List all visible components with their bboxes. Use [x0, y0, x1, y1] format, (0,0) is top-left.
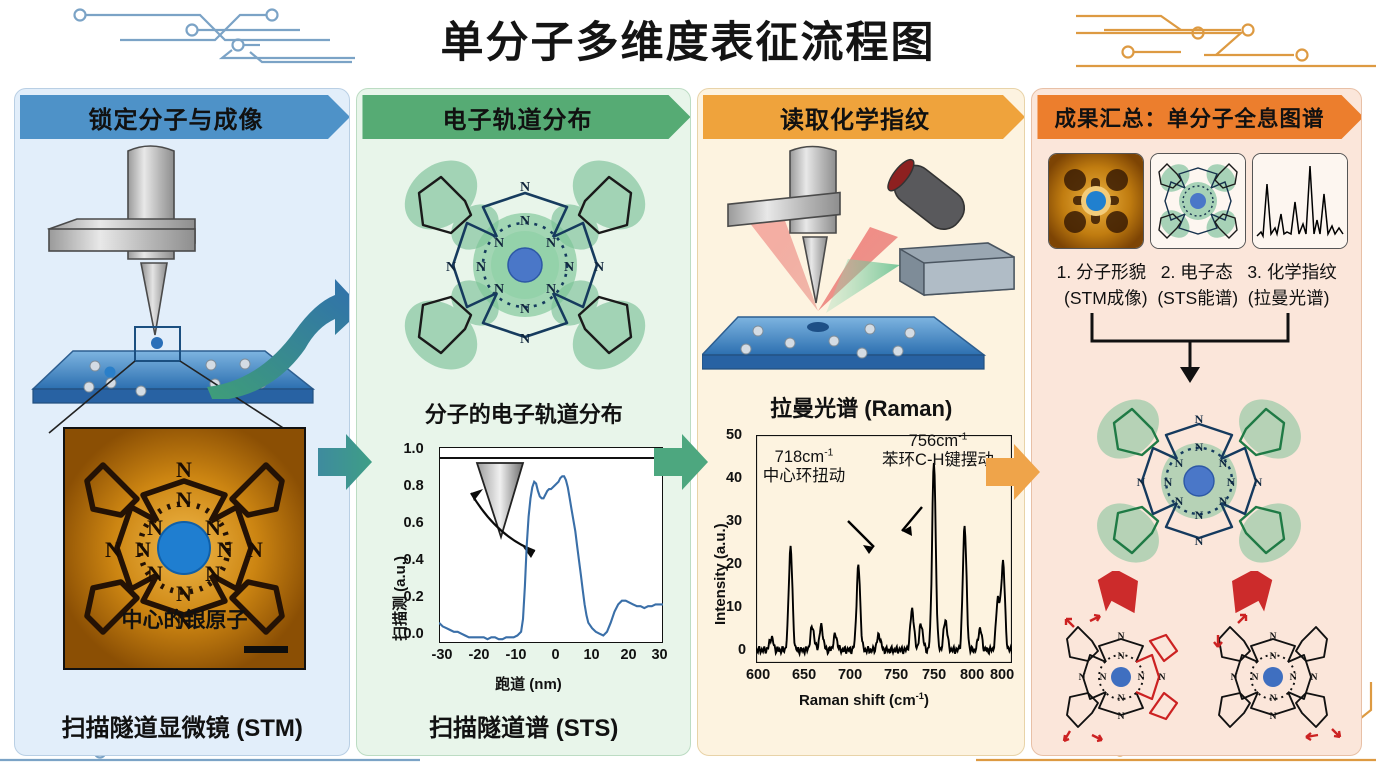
panel-raman-subtitle: 拉曼光谱 (Raman): [698, 391, 1025, 423]
arrow-panel2-to-panel3: [652, 430, 710, 494]
sts-chart: 扫描测 (a.u.) 跑道 (nm) 1.0 0.8 0.6 0.4 0.2 0…: [385, 441, 671, 701]
svg-text:N: N: [247, 537, 263, 562]
svg-text:N: N: [1195, 412, 1204, 426]
svg-text:N: N: [135, 537, 151, 562]
raman-ytick-20: 20: [726, 556, 742, 572]
sts-xtick-30: 30: [651, 647, 667, 663]
vibration-mode-molecule-right: NN NN NN NN: [1198, 609, 1348, 749]
panel-stm: 锁定分子与成像: [14, 88, 350, 756]
thumbnail-raman-spectrum: [1252, 153, 1348, 249]
stm-scale-bar: [244, 646, 288, 653]
raman-xtick-800a: 800: [960, 667, 984, 683]
svg-text:N: N: [476, 260, 486, 275]
svg-text:N: N: [1118, 712, 1125, 722]
sts-x-axis-label: 跑道 (nm): [385, 673, 671, 694]
panel-raman-header: 读取化学指纹: [703, 95, 1025, 139]
svg-text:N: N: [1100, 673, 1107, 683]
svg-text:N: N: [520, 180, 530, 195]
svg-text:N: N: [1138, 673, 1145, 683]
vibration-mode-molecule-left: NN NN NN NN: [1046, 609, 1196, 749]
svg-text:N: N: [1290, 673, 1297, 683]
svg-text:N: N: [494, 282, 504, 297]
svg-text:N: N: [205, 561, 221, 586]
svg-text:N: N: [520, 302, 530, 317]
ters-instrument-diagram: [702, 141, 1024, 391]
svg-text:N: N: [520, 332, 530, 347]
svg-text:N: N: [494, 236, 504, 251]
svg-text:N: N: [217, 537, 233, 562]
panel-raman: 读取化学指纹: [697, 88, 1026, 756]
raman-xtick-750b: 750: [922, 667, 946, 683]
svg-text:N: N: [1079, 673, 1086, 683]
svg-text:N: N: [1118, 652, 1125, 662]
sts-ytick-0.2: 0.2: [403, 589, 423, 605]
raman-annotation-756-wavenumber: 756cm-1: [909, 432, 968, 450]
svg-text:N: N: [1159, 673, 1166, 683]
sts-xtick--30: -30: [431, 647, 452, 663]
panel-sts-caption: 扫描隧道谱 (STS): [357, 708, 689, 743]
svg-text:N: N: [1270, 632, 1277, 642]
svg-text:N: N: [1270, 652, 1277, 662]
merge-arrow: [1074, 313, 1324, 385]
panel-stm-caption: 扫描隧道显微镜 (STM): [15, 708, 349, 743]
page-title: 单分子多维度表征流程图: [0, 8, 1376, 70]
sts-ytick-0.8: 0.8: [403, 478, 423, 494]
arrow-panel1-to-panel2: [316, 430, 374, 494]
stm-center-atom-label: 中心的银原子: [65, 604, 304, 634]
summary-item-1-name: 1. 分子形貌: [1057, 262, 1146, 282]
sts-xtick-20: 20: [620, 647, 636, 663]
svg-text:N: N: [176, 487, 192, 512]
raman-annotation-756-desc: 苯环C-H键摆动: [882, 451, 994, 469]
panel-stm-header: 锁定分子与成像: [20, 95, 350, 139]
svg-text:N: N: [1137, 475, 1146, 489]
svg-text:N: N: [594, 260, 604, 275]
stm-topography-image: NN NN NN NN NN NN 中心的银原子: [63, 427, 306, 670]
svg-text:N: N: [446, 260, 456, 275]
orbital-distribution-diagram: NN NN NN NN NN NN: [379, 145, 671, 385]
svg-text:N: N: [1118, 632, 1125, 642]
sts-xtick--20: -20: [468, 647, 489, 663]
sts-ytick-0.0: 0.0: [403, 626, 423, 642]
svg-text:N: N: [1175, 456, 1184, 470]
thumbnail-orbital-map: [1150, 153, 1246, 249]
svg-text:N: N: [564, 260, 574, 275]
summary-item-2-name: 2. 电子态: [1161, 262, 1233, 282]
summary-item-3-name: 3. 化学指纹: [1247, 262, 1336, 282]
sts-xtick-0: 0: [551, 647, 559, 663]
svg-text:N: N: [1175, 494, 1184, 508]
raman-ytick-50: 50: [726, 427, 742, 443]
raman-ytick-0: 0: [738, 642, 746, 658]
raman-annotation-718: 718cm-1 中心环扭动: [734, 447, 874, 487]
svg-text:N: N: [1219, 456, 1228, 470]
svg-text:N: N: [105, 537, 121, 562]
svg-text:N: N: [546, 236, 556, 251]
sts-ytick-1.0: 1.0: [403, 441, 423, 457]
summary-item-1-method: (STM成像): [1064, 288, 1148, 308]
raman-annotation-718-wavenumber: 718cm-1: [775, 448, 834, 466]
svg-text:N: N: [1311, 673, 1318, 683]
raman-ytick-10: 10: [726, 599, 742, 615]
raman-x-axis-label: Raman shift (cm-1): [708, 691, 1020, 709]
panel-summary: 成果汇总：单分子全息图谱: [1031, 88, 1362, 756]
arrow-stm-to-orbital: [195, 269, 350, 399]
arrow-panel3-to-panel4: [984, 440, 1042, 504]
svg-text:N: N: [176, 457, 192, 482]
workflow-panels: 锁定分子与成像: [14, 88, 1362, 756]
panel-sts-header: 电子轨道分布: [362, 95, 690, 139]
raman-xtick-700: 700: [838, 667, 862, 683]
svg-text:N: N: [1270, 694, 1277, 704]
sts-xtick--10: -10: [505, 647, 526, 663]
summary-item-2-method: (STS能谱): [1157, 288, 1238, 308]
svg-text:N: N: [1270, 712, 1277, 722]
svg-text:N: N: [1195, 440, 1204, 454]
sts-ytick-0.4: 0.4: [403, 552, 423, 568]
raman-xtick-800b: 800: [990, 667, 1014, 683]
thumbnail-stm-topography: [1048, 153, 1144, 249]
svg-text:N: N: [1254, 475, 1263, 489]
raman-xtick-750a: 750: [884, 667, 908, 683]
raman-annotation-718-desc: 中心环扭动: [763, 467, 846, 485]
svg-text:N: N: [1219, 494, 1228, 508]
svg-text:N: N: [1195, 534, 1204, 548]
sts-ytick-0.6: 0.6: [403, 515, 423, 531]
panel-summary-header: 成果汇总：单分子全息图谱: [1037, 95, 1362, 139]
sts-xtick-10: 10: [583, 647, 599, 663]
raman-xtick-600a: 600: [746, 667, 770, 683]
svg-text:N: N: [176, 581, 192, 606]
raman-ytick-30: 30: [726, 513, 742, 529]
summary-item-3-method: (拉曼光谱): [1248, 288, 1330, 308]
holographic-molecule-diagram: NN NN NN NN NN NN: [1084, 385, 1314, 575]
svg-text:N: N: [1252, 673, 1259, 683]
summary-names-row: 1. 分子形貌 2. 电子态 3. 化学指纹: [1032, 259, 1361, 284]
svg-text:N: N: [1231, 673, 1238, 683]
svg-text:N: N: [520, 214, 530, 229]
summary-methods-row: (STM成像) (STS能谱) (拉曼光谱): [1032, 285, 1361, 310]
svg-text:N: N: [1195, 508, 1204, 522]
panel-sts-subtitle: 分子的电子轨道分布: [357, 397, 689, 429]
svg-text:N: N: [147, 561, 163, 586]
svg-text:N: N: [546, 282, 556, 297]
svg-text:N: N: [1118, 694, 1125, 704]
raman-chart: Intensity (a.u.) Raman shift (cm-1) 50 4…: [708, 429, 1020, 719]
panel-sts: 电子轨道分布: [356, 88, 690, 756]
svg-text:N: N: [1164, 475, 1173, 489]
raman-xtick-650: 650: [792, 667, 816, 683]
sts-plot-area: [439, 447, 663, 643]
svg-text:N: N: [1227, 475, 1236, 489]
